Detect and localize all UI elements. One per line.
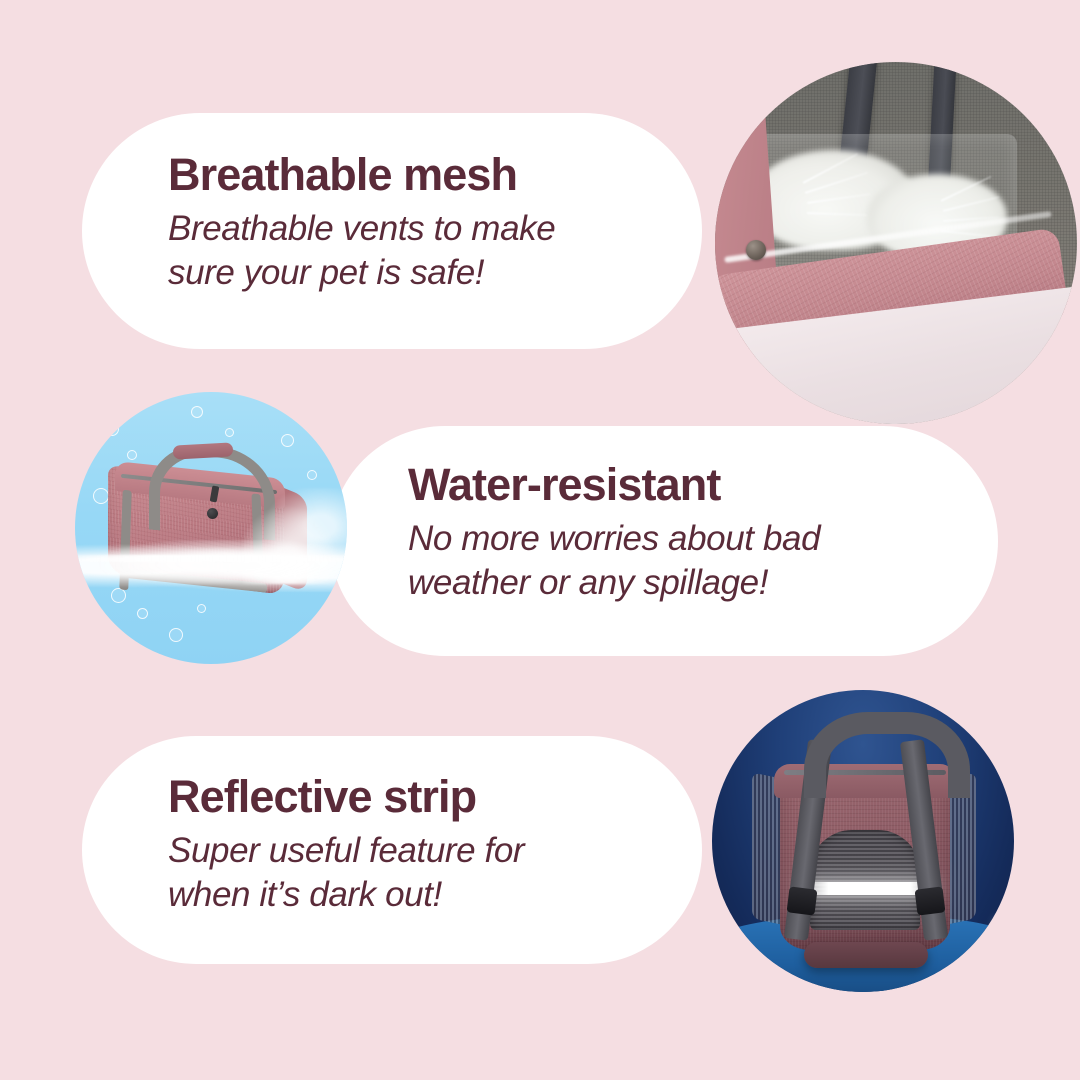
feature-description: Breathable vents to make sure your pet i…: [168, 207, 668, 296]
feature-title: Water-resistant: [408, 462, 928, 507]
bag-base-pad: [804, 942, 928, 968]
water-surface-line: [75, 555, 347, 562]
feature-image-reflective-strip: [712, 690, 1014, 992]
feature-description-line-2: when it’s dark out!: [168, 875, 442, 914]
background-light-glow: [996, 920, 1006, 930]
water-bubble: [281, 434, 294, 447]
feature-title: Reflective strip: [168, 774, 668, 819]
feature-text-water-resistant: Water-resistant No more worries about ba…: [408, 462, 928, 606]
bag-carry-handle: [804, 712, 970, 798]
water-bubble: [169, 628, 183, 642]
mesh-photo-scene: [715, 62, 1077, 424]
feature-description-line-2: sure your pet is safe!: [168, 253, 484, 292]
water-photo-scene: Wmpet: [75, 392, 347, 664]
feature-description-line-1: Breathable vents to make: [168, 209, 555, 248]
water-bubble: [191, 406, 203, 418]
feature-description: Super useful feature for when it’s dark …: [168, 829, 668, 918]
feature-poster: Breathable mesh Breathable vents to make…: [0, 0, 1080, 1080]
water-bubble: [105, 422, 119, 436]
background-light-glow: [718, 928, 728, 938]
carrier-metal-rivet: [746, 240, 766, 260]
feature-text-breathable-mesh: Breathable mesh Breathable vents to make…: [168, 152, 668, 296]
bag-buckle-right: [915, 886, 946, 915]
feature-image-breathable-mesh: [715, 62, 1077, 424]
bag-rear-mesh-window: [810, 830, 920, 930]
feature-text-reflective-strip: Reflective strip Super useful feature fo…: [168, 774, 668, 918]
water-bubble: [137, 608, 148, 619]
feature-title: Breathable mesh: [168, 152, 668, 197]
water-bubble: [127, 450, 137, 460]
night-photo-scene: [712, 690, 1014, 992]
feature-description-line-2: weather or any spillage!: [408, 563, 768, 602]
feature-image-water-resistant: Wmpet: [75, 392, 347, 664]
carrier-bag-rear-view: [748, 746, 980, 954]
water-bubble: [197, 604, 206, 613]
water-splash-foam: [75, 540, 347, 592]
feature-description-line-1: Super useful feature for: [168, 831, 524, 870]
bag-buckle-left: [787, 886, 818, 915]
feature-description: No more worries about bad weather or any…: [408, 517, 928, 606]
feature-description-line-1: No more worries about bad: [408, 519, 820, 558]
water-bubble: [225, 428, 234, 437]
